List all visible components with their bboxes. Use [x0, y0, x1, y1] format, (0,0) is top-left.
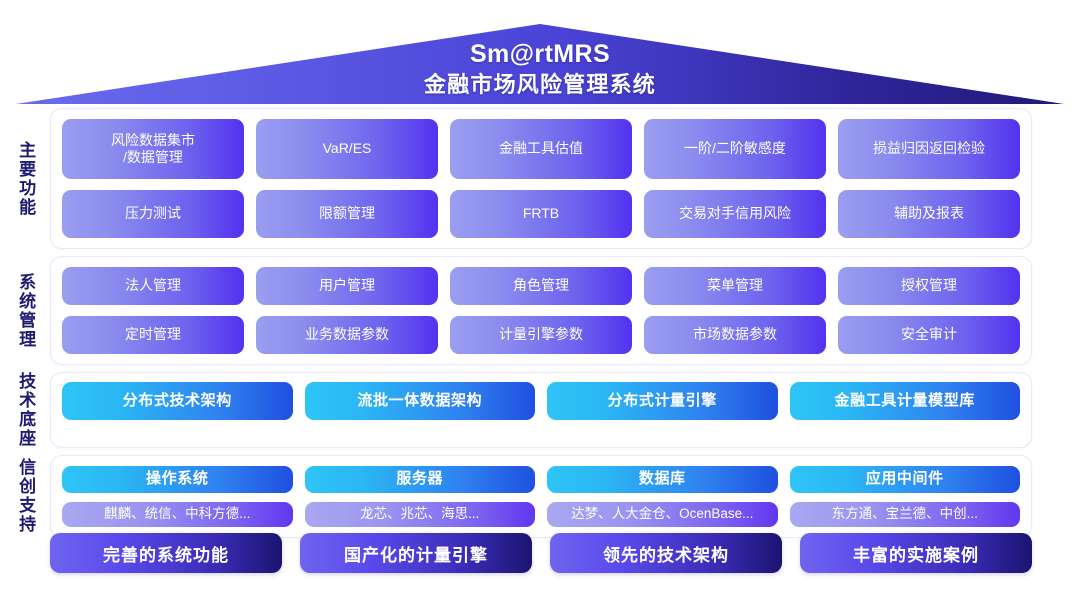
band-label-xinchuang-support: 信创支持: [0, 455, 50, 538]
feature-card[interactable]: 交易对手信用风险: [644, 190, 826, 238]
xinchuang-column: 服务器 龙芯、兆芯、海思...: [305, 466, 536, 527]
band-panel-main-functions: 风险数据集市 /数据管理 VaR/ES 金融工具估值 一阶/二阶敏感度 损益归因…: [50, 108, 1032, 249]
card-row: 压力测试 限额管理 FRTB 交易对手信用风险 辅助及报表: [62, 190, 1020, 238]
xinchuang-column: 应用中间件 东方通、宝兰德、中创...: [790, 466, 1021, 527]
band-panel-xinchuang-support: 操作系统 麒麟、统信、中科方德... 服务器 龙芯、兆芯、海思... 数据库 达…: [50, 455, 1032, 538]
xinchuang-column: 操作系统 麒麟、统信、中科方德...: [62, 466, 293, 527]
card-row: 操作系统 麒麟、统信、中科方德... 服务器 龙芯、兆芯、海思... 数据库 达…: [62, 466, 1020, 527]
band-panel-tech-foundation: 分布式技术架构 流批一体数据架构 分布式计量引擎 金融工具计量模型库: [50, 372, 1032, 448]
band-label-text: 系统管理: [16, 273, 34, 349]
feature-card[interactable]: 法人管理: [62, 267, 244, 305]
tech-card[interactable]: 分布式计量引擎: [547, 382, 778, 420]
highlight-pill-row: 完善的系统功能 国产化的计量引擎 领先的技术架构 丰富的实施案例: [50, 533, 1032, 573]
band-label-main-functions: 主要功能: [0, 108, 50, 249]
feature-card[interactable]: 压力测试: [62, 190, 244, 238]
band-main-functions: 主要功能 风险数据集市 /数据管理 VaR/ES 金融工具估值 一阶/二阶敏感度…: [0, 108, 1080, 249]
xinchuang-category-card[interactable]: 应用中间件: [790, 466, 1021, 493]
card-row: 定时管理 业务数据参数 计量引擎参数 市场数据参数 安全审计: [62, 316, 1020, 354]
feature-card[interactable]: 限额管理: [256, 190, 438, 238]
tech-card[interactable]: 分布式技术架构: [62, 382, 293, 420]
tech-card[interactable]: 金融工具计量模型库: [790, 382, 1021, 420]
feature-card[interactable]: 辅助及报表: [838, 190, 1020, 238]
tech-card[interactable]: 流批一体数据架构: [305, 382, 536, 420]
band-label-text: 信创支持: [16, 458, 34, 534]
card-row: 分布式技术架构 流批一体数据架构 分布式计量引擎 金融工具计量模型库: [62, 382, 1020, 420]
xinchuang-vendor-card[interactable]: 龙芯、兆芯、海思...: [305, 502, 536, 527]
xinchuang-column: 数据库 达梦、人大金仓、OcenBase...: [547, 466, 778, 527]
xinchuang-category-card[interactable]: 数据库: [547, 466, 778, 493]
feature-card[interactable]: 用户管理: [256, 267, 438, 305]
diagram-root: Sm@rtMRS 金融市场风险管理系统 主要功能 风险数据集市 /数据管理 Va…: [0, 0, 1080, 604]
roof-shape-icon: [0, 0, 1080, 110]
highlight-pill[interactable]: 领先的技术架构: [550, 533, 782, 573]
feature-card[interactable]: 市场数据参数: [644, 316, 826, 354]
band-tech-foundation: 技术底座 分布式技术架构 流批一体数据架构 分布式计量引擎 金融工具计量模型库: [0, 372, 1080, 448]
feature-card[interactable]: 角色管理: [450, 267, 632, 305]
xinchuang-category-card[interactable]: 操作系统: [62, 466, 293, 493]
feature-card[interactable]: 金融工具估值: [450, 119, 632, 179]
band-label-text: 主要功能: [16, 141, 34, 217]
feature-card[interactable]: 菜单管理: [644, 267, 826, 305]
header-roof: Sm@rtMRS 金融市场风险管理系统: [0, 0, 1080, 110]
feature-card[interactable]: 风险数据集市 /数据管理: [62, 119, 244, 179]
feature-card[interactable]: 业务数据参数: [256, 316, 438, 354]
feature-card[interactable]: 一阶/二阶敏感度: [644, 119, 826, 179]
feature-card[interactable]: 计量引擎参数: [450, 316, 632, 354]
feature-card[interactable]: 安全审计: [838, 316, 1020, 354]
band-label-text: 技术底座: [16, 372, 34, 448]
highlight-pill[interactable]: 完善的系统功能: [50, 533, 282, 573]
feature-card[interactable]: VaR/ES: [256, 119, 438, 179]
xinchuang-vendor-card[interactable]: 麒麟、统信、中科方德...: [62, 502, 293, 527]
xinchuang-category-card[interactable]: 服务器: [305, 466, 536, 493]
feature-card[interactable]: 损益归因返回检验: [838, 119, 1020, 179]
band-system-management: 系统管理 法人管理 用户管理 角色管理 菜单管理 授权管理 定时管理 业务数据参…: [0, 256, 1080, 365]
band-label-tech-foundation: 技术底座: [0, 372, 50, 448]
xinchuang-vendor-card[interactable]: 达梦、人大金仓、OcenBase...: [547, 502, 778, 527]
card-row: 风险数据集市 /数据管理 VaR/ES 金融工具估值 一阶/二阶敏感度 损益归因…: [62, 119, 1020, 179]
architecture-stack: 主要功能 风险数据集市 /数据管理 VaR/ES 金融工具估值 一阶/二阶敏感度…: [0, 108, 1080, 545]
xinchuang-vendor-card[interactable]: 东方通、宝兰德、中创...: [790, 502, 1021, 527]
band-xinchuang-support: 信创支持 操作系统 麒麟、统信、中科方德... 服务器 龙芯、兆芯、海思... …: [0, 455, 1080, 538]
feature-card[interactable]: FRTB: [450, 190, 632, 238]
band-panel-system-management: 法人管理 用户管理 角色管理 菜单管理 授权管理 定时管理 业务数据参数 计量引…: [50, 256, 1032, 365]
highlight-pill[interactable]: 国产化的计量引擎: [300, 533, 532, 573]
feature-card[interactable]: 授权管理: [838, 267, 1020, 305]
card-row: 法人管理 用户管理 角色管理 菜单管理 授权管理: [62, 267, 1020, 305]
highlight-pill[interactable]: 丰富的实施案例: [800, 533, 1032, 573]
band-label-system-management: 系统管理: [0, 256, 50, 365]
feature-card[interactable]: 定时管理: [62, 316, 244, 354]
